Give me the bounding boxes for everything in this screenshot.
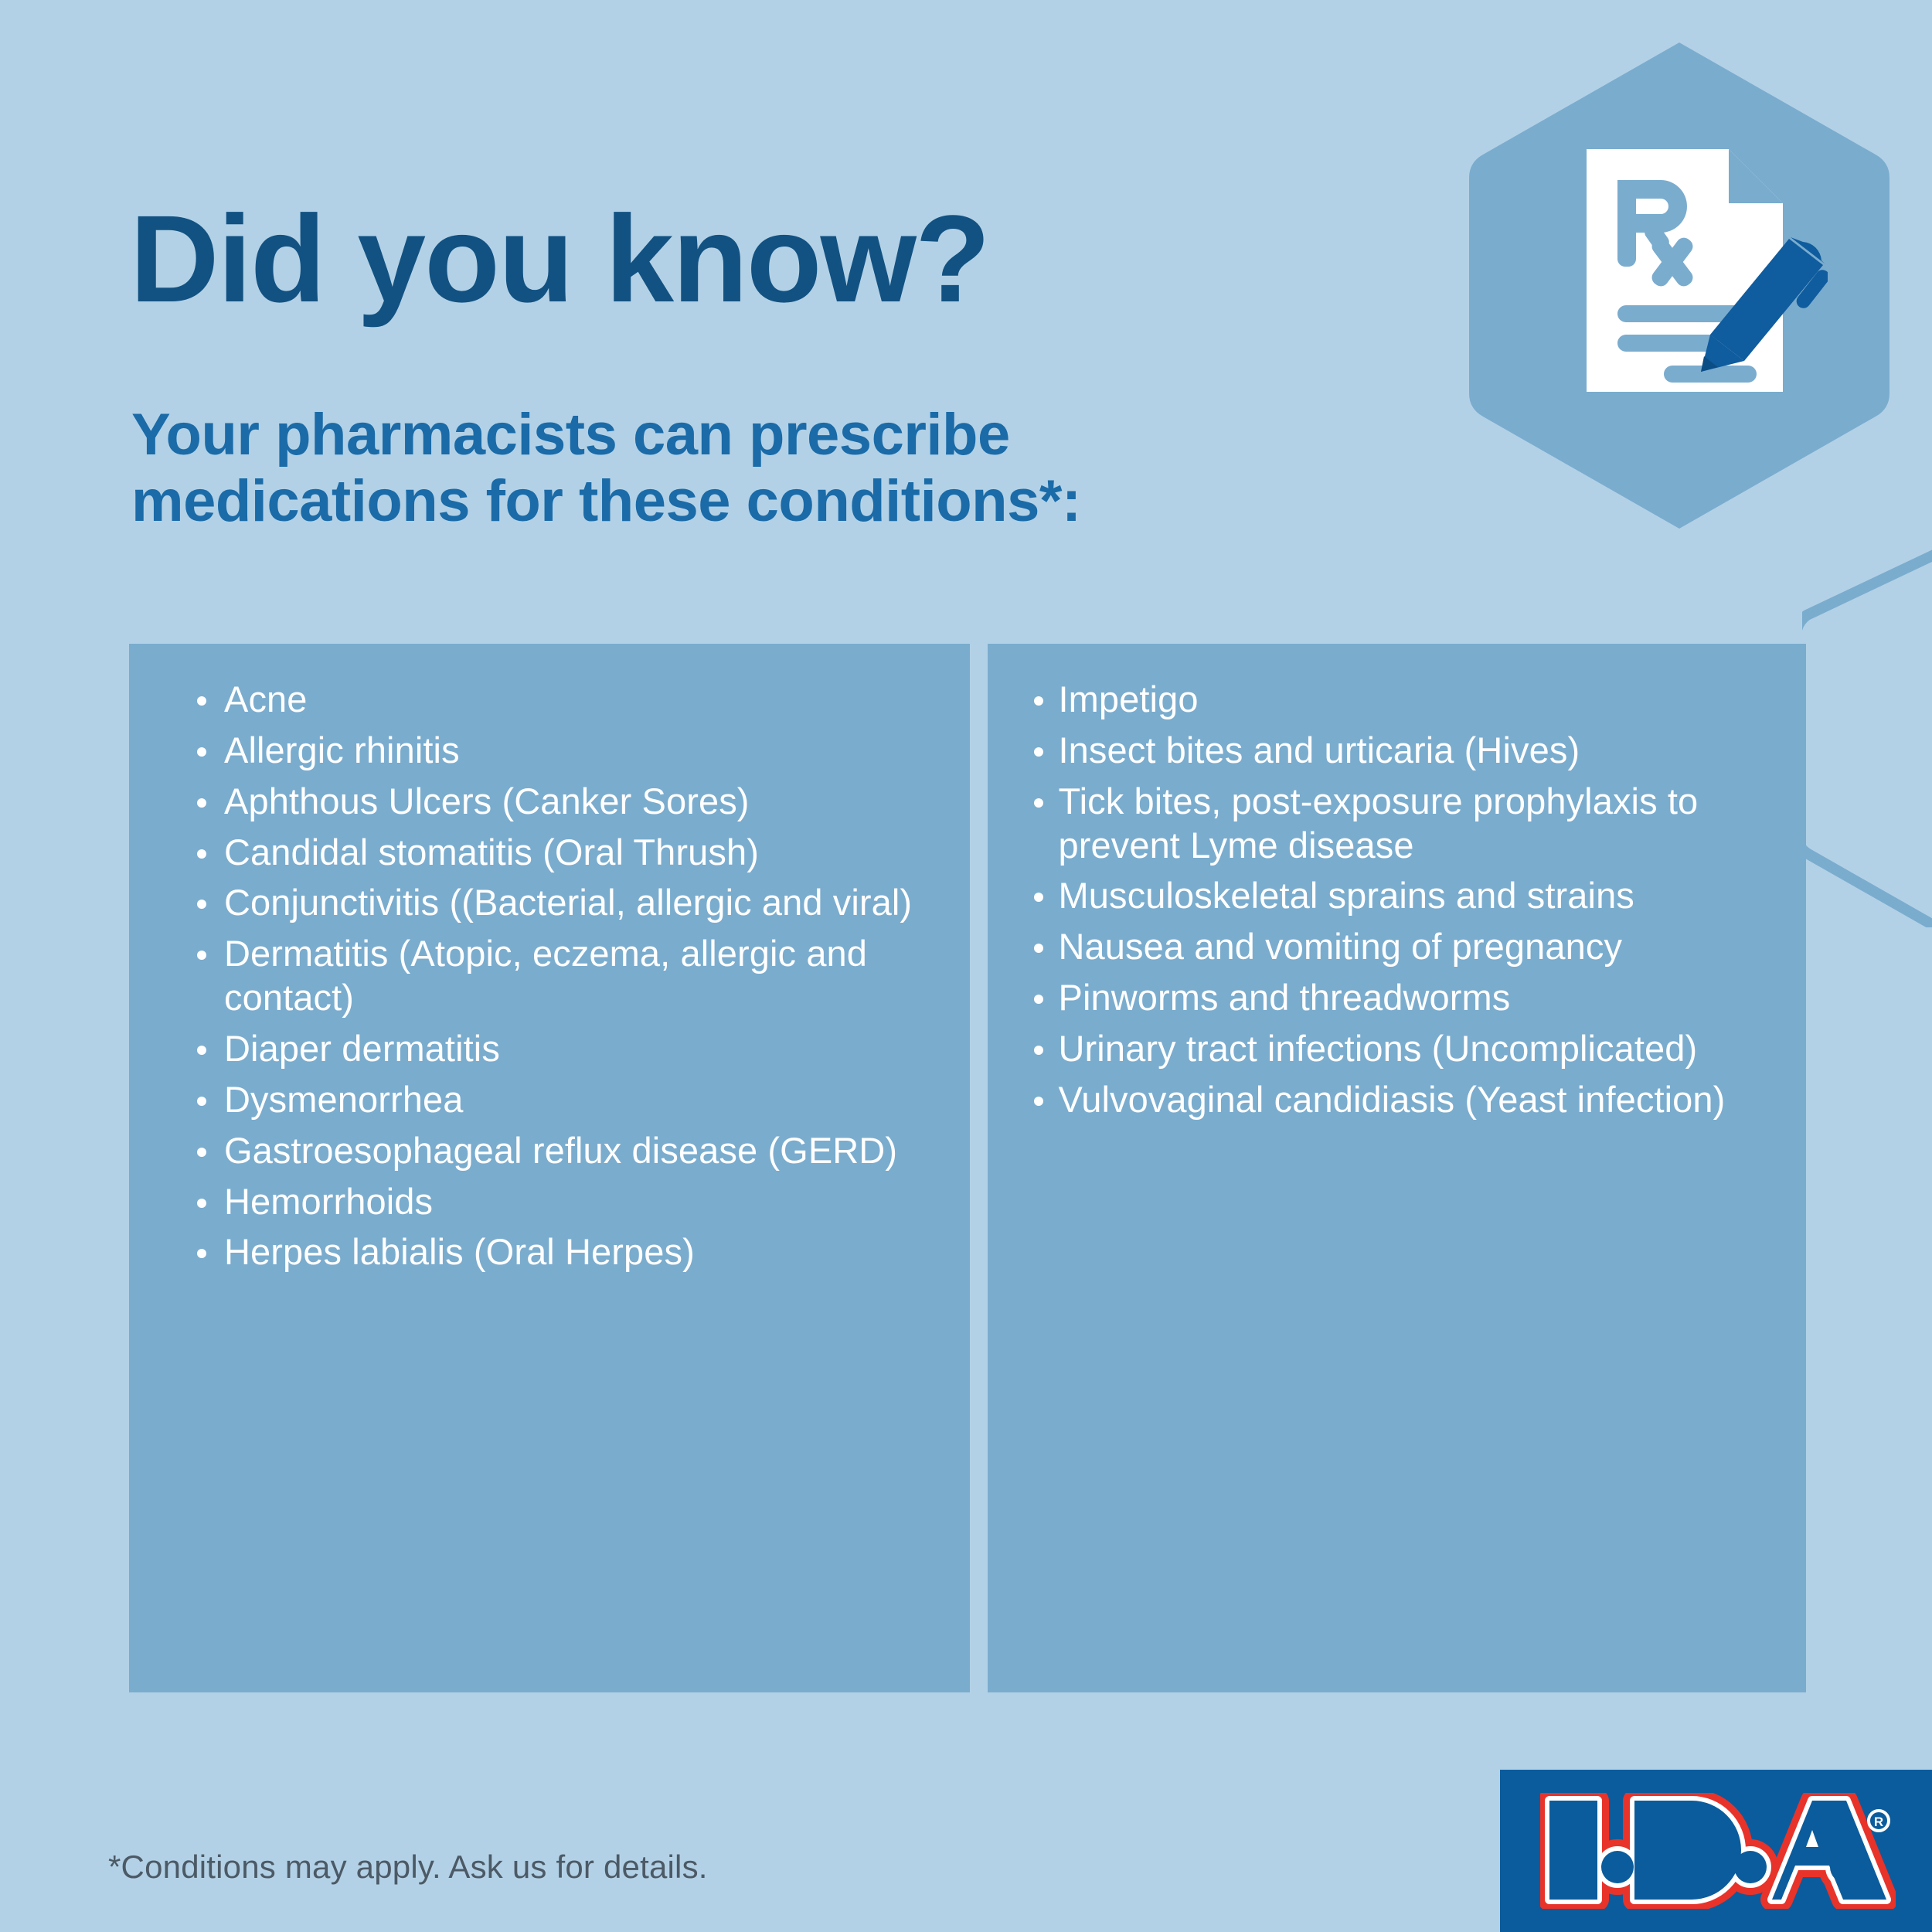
subtitle-line-1: Your pharmacists can prescribe <box>131 402 1291 468</box>
condition-left-item: Dermatitis (Atopic, eczema, allergic and… <box>189 932 939 1020</box>
hexagon-outline-shape <box>1802 541 1932 927</box>
condition-left-item: Aphthous Ulcers (Canker Sores) <box>189 780 939 824</box>
registered-mark-icon: R <box>1869 1811 1889 1831</box>
condition-left-item: Acne <box>189 678 939 722</box>
condition-left-item: Dysmenorrhea <box>189 1078 939 1122</box>
ida-logo-panel: R <box>1500 1770 1932 1932</box>
condition-right-item: Vulvovaginal candidiasis (Yeast infectio… <box>1026 1078 1776 1122</box>
condition-left-item: Hemorrhoids <box>189 1180 939 1224</box>
page-subtitle: Your pharmacists can prescribe medicatio… <box>131 402 1291 535</box>
conditions-list-left: AcneAllergic rhinitisAphthous Ulcers (Ca… <box>189 678 939 1274</box>
condition-left-item: Candidal stomatitis (Oral Thrush) <box>189 831 939 875</box>
condition-right-item: Urinary tract infections (Uncomplicated) <box>1026 1027 1776 1071</box>
conditions-panels: AcneAllergic rhinitisAphthous Ulcers (Ca… <box>129 644 1806 1692</box>
condition-right-item: Musculoskeletal sprains and strains <box>1026 874 1776 918</box>
footer-disclaimer: *Conditions may apply. Ask us for detail… <box>108 1849 708 1886</box>
condition-right-item: Tick bites, post-exposure prophylaxis to… <box>1026 780 1776 868</box>
condition-right-item: Insect bites and urticaria (Hives) <box>1026 729 1776 773</box>
conditions-panel-right: ImpetigoInsect bites and urticaria (Hive… <box>988 644 1807 1692</box>
condition-right-item: Impetigo <box>1026 678 1776 722</box>
conditions-panel-left: AcneAllergic rhinitisAphthous Ulcers (Ca… <box>129 644 970 1692</box>
condition-left-item: Herpes labialis (Oral Herpes) <box>189 1230 939 1274</box>
condition-left-item: Conjunctivitis ((Bacterial, allergic and… <box>189 881 939 925</box>
infographic-canvas: Did you know? Your pharmacists can presc… <box>0 0 1932 1932</box>
page-title: Did you know? <box>130 197 989 321</box>
conditions-list-right: ImpetigoInsect bites and urticaria (Hive… <box>1026 678 1776 1122</box>
rx-prescription-icon <box>1580 143 1828 398</box>
condition-left-item: Diaper dermatitis <box>189 1027 939 1071</box>
condition-right-item: Nausea and vomiting of pregnancy <box>1026 925 1776 969</box>
condition-right-item: Pinworms and threadworms <box>1026 976 1776 1020</box>
svg-text:R: R <box>1874 1815 1883 1829</box>
condition-left-item: Gastroesophageal reflux disease (GERD) <box>189 1129 939 1173</box>
ida-logo-mark: R <box>1540 1793 1896 1909</box>
subtitle-line-2: medications for these conditions*: <box>131 468 1291 535</box>
condition-left-item: Allergic rhinitis <box>189 729 939 773</box>
